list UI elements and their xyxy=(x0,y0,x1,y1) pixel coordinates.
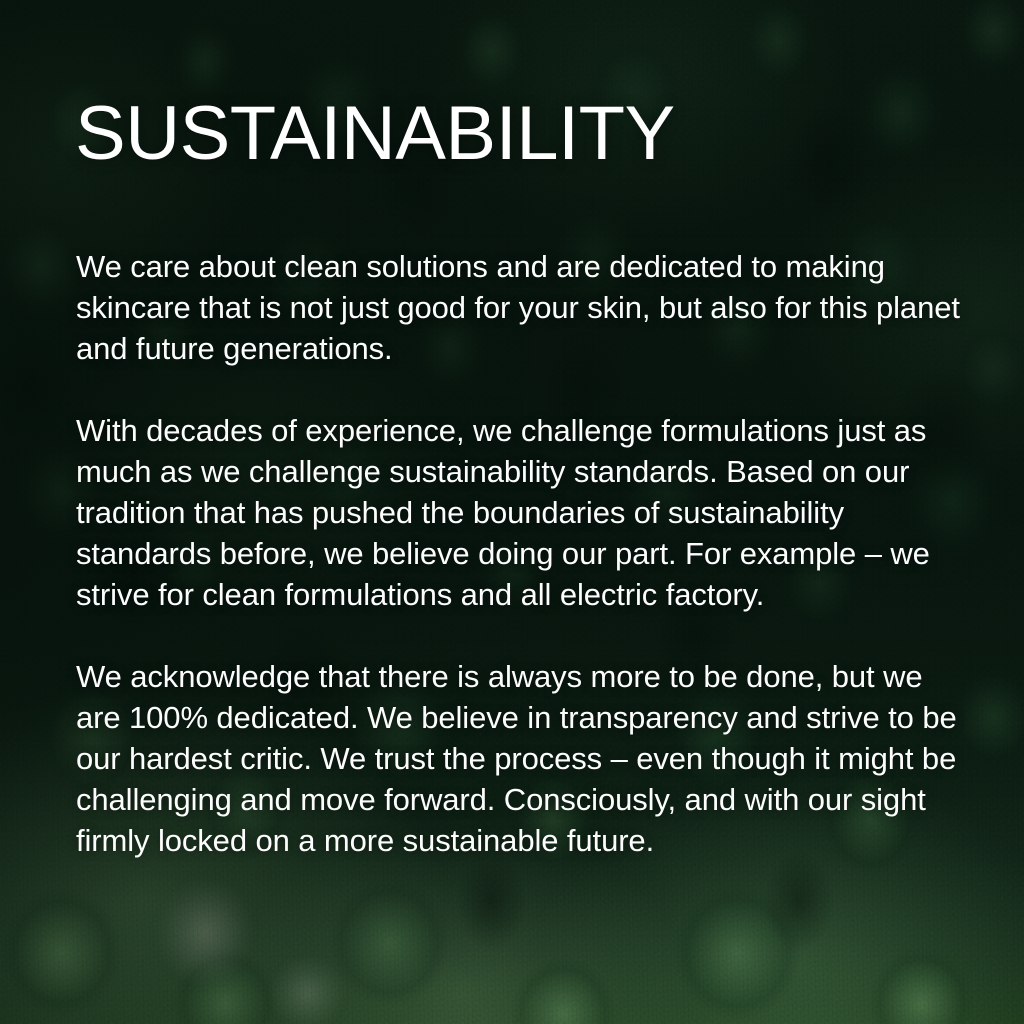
body-copy: We care about clean solutions and are de… xyxy=(76,246,968,861)
paragraph-1: We care about clean solutions and are de… xyxy=(76,246,968,369)
page-title: SUSTAINABILITY xyxy=(75,96,675,172)
paragraph-3: We acknowledge that there is always more… xyxy=(76,656,968,861)
poster-content: SUSTAINABILITY We care about clean solut… xyxy=(75,0,975,1024)
paragraph-2: With decades of experience, we challenge… xyxy=(76,410,968,615)
sustainability-poster: SUSTAINABILITY We care about clean solut… xyxy=(0,0,1024,1024)
